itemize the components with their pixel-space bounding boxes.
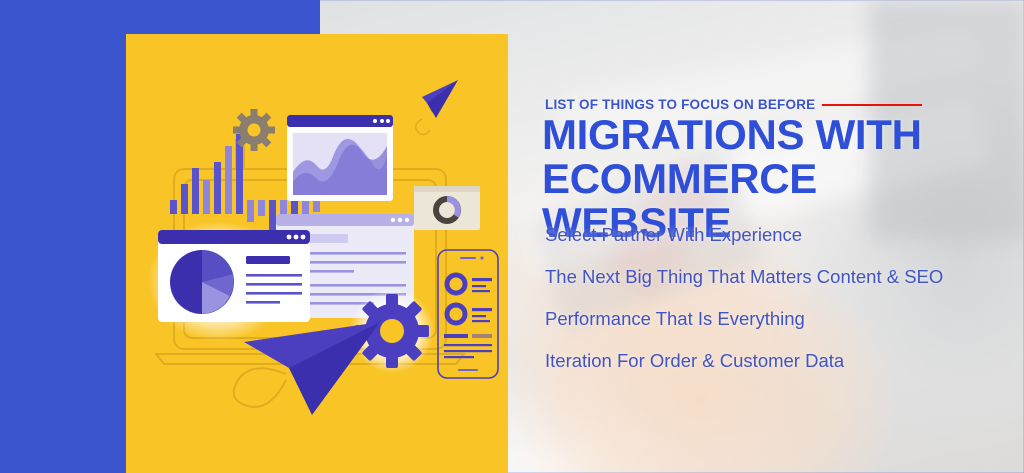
eyebrow-text: LIST OF THINGS TO FOCUS ON BEFORE	[545, 97, 815, 112]
gear-small-gray-icon	[233, 109, 275, 151]
list-item: Iteration For Order & Customer Data	[545, 350, 985, 372]
list-item: The Next Big Thing That Matters Content …	[545, 266, 985, 288]
analytics-illustration	[126, 34, 508, 473]
banner-root: LIST OF THINGS TO FOCUS ON BEFORE MIGRAT…	[0, 0, 1024, 473]
yellow-illustration-card	[126, 34, 508, 473]
list-item: Select Partner With Experience	[545, 224, 985, 246]
paper-plane-large	[234, 322, 380, 415]
list-item: Performance That Is Everything	[545, 308, 985, 330]
headline-line-1: MIGRATIONS WITH	[542, 111, 922, 158]
window-donut-chart	[414, 186, 480, 230]
text-content-column: LIST OF THINGS TO FOCUS ON BEFORE MIGRAT…	[545, 0, 985, 473]
pie-chart	[170, 250, 234, 314]
eyebrow-red-rule	[822, 104, 922, 106]
bullet-list: Select Partner With Experience The Next …	[545, 224, 985, 392]
browser-window-area-chart	[287, 115, 393, 201]
browser-window-pie-chart	[158, 230, 310, 322]
paper-plane-small	[416, 80, 458, 135]
